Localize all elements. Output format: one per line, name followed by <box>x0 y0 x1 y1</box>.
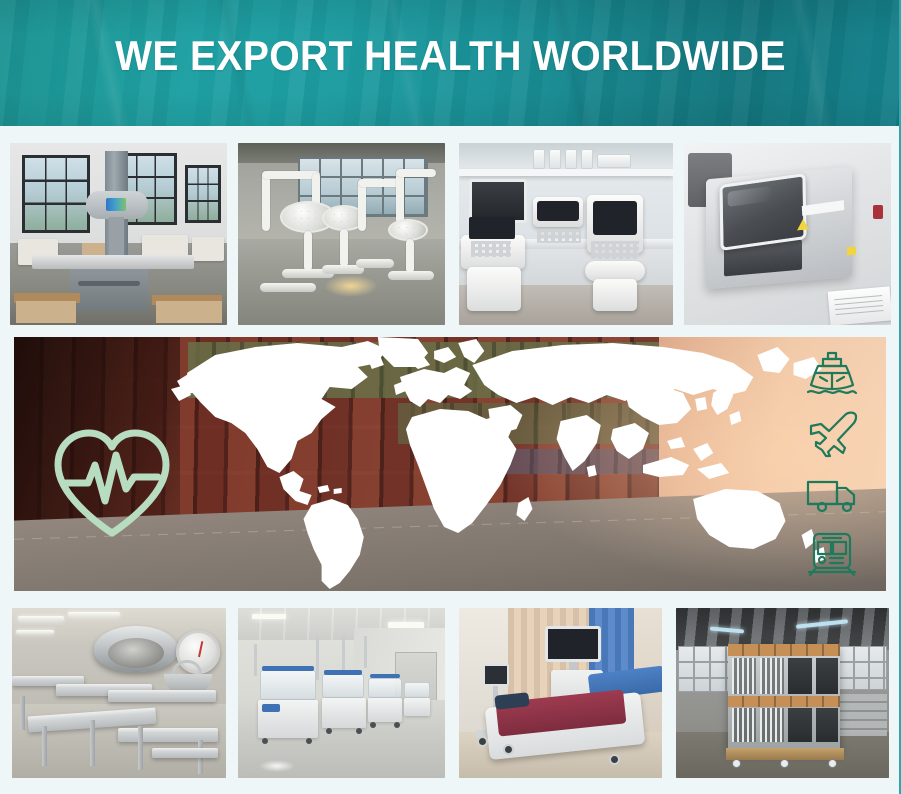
photo-vet-operating-tables[interactable] <box>12 608 226 778</box>
vet-cages-scene <box>676 608 889 778</box>
equipment-shelf <box>152 748 218 758</box>
header-banner: WE EXPORT HEALTH WORLDWIDE <box>0 0 901 126</box>
x-ray-stem <box>109 217 124 259</box>
control-keys <box>591 241 639 259</box>
photo-biochemistry-analyzer[interactable] <box>684 143 891 325</box>
photo-infant-incubators[interactable] <box>238 608 445 778</box>
surgical-lights-scene <box>238 143 445 325</box>
surgical-lamp-head <box>388 219 428 241</box>
patient-table <box>32 255 194 269</box>
world-map-silhouette <box>171 337 834 591</box>
photo-x-ray-room[interactable] <box>10 143 227 325</box>
lamp-base <box>356 259 394 268</box>
table-base <box>70 269 148 311</box>
iv-pole <box>254 644 257 676</box>
x-ray-control-panel <box>106 198 126 211</box>
caster-wheel <box>828 759 837 768</box>
window <box>185 165 221 223</box>
airplane-icon <box>805 410 859 458</box>
vet-tables-scene <box>12 608 226 778</box>
patient-monitor <box>545 626 601 662</box>
bed-wheel <box>609 754 620 765</box>
supply-jar <box>549 149 561 169</box>
factory-window <box>678 646 730 692</box>
caster-wheel <box>732 759 741 768</box>
table-leg <box>90 720 95 766</box>
heart-pulse-icon <box>48 425 176 541</box>
cage-label-strip <box>728 696 840 707</box>
crate <box>156 301 222 323</box>
incubator-hood <box>260 670 316 700</box>
caster-wheel <box>780 759 789 768</box>
power-switch[interactable] <box>873 205 883 219</box>
ceiling-pipe <box>342 636 345 674</box>
control-keys <box>537 229 581 243</box>
lamp-base <box>388 271 434 280</box>
ultrasound-room-scene <box>459 143 673 325</box>
world-map-shipping-banner <box>14 337 886 591</box>
incubator-cabinet <box>322 698 366 728</box>
truck-icon <box>805 470 859 518</box>
caster-wheel <box>394 722 400 728</box>
stainless-table <box>118 728 218 742</box>
cage-compartment <box>788 708 812 742</box>
cart-handle <box>585 261 645 281</box>
caster-wheel <box>370 722 376 728</box>
transport-modes-list <box>800 351 864 577</box>
ultrasound-keyboard-panel <box>469 217 515 239</box>
lamp-post <box>406 239 414 273</box>
supply-jar <box>533 149 545 169</box>
cage-compartment <box>788 658 812 694</box>
caster-wheel <box>306 738 312 744</box>
ceiling-light <box>68 612 120 617</box>
analyzer-touchscreen[interactable] <box>719 173 806 251</box>
incubator-corridor-scene <box>238 608 445 778</box>
ceiling-pipe <box>316 636 319 680</box>
ultrasound-display <box>593 201 637 235</box>
incubator-cabinet <box>404 698 430 716</box>
ceiling-light <box>18 616 64 621</box>
incubator-hood <box>322 674 364 698</box>
lamp-light-pool <box>324 275 378 297</box>
caster-wheel <box>262 738 268 744</box>
shelf-edge <box>459 169 673 176</box>
cage-door-grid <box>732 708 756 742</box>
incubator-hood <box>404 682 430 698</box>
wrapped-equipment <box>192 237 224 261</box>
export-banner-page: WE EXPORT HEALTH WORLDWIDE <box>0 0 901 794</box>
ultrasound-display <box>537 201 579 221</box>
supply-box <box>597 154 631 168</box>
photo-ultrasound-machines[interactable] <box>459 143 673 325</box>
cart-body <box>467 267 521 311</box>
supply-jar <box>581 149 593 169</box>
crate <box>16 301 76 323</box>
incubator-trim <box>370 674 400 678</box>
document-sheet <box>828 286 891 325</box>
ceiling-light <box>16 630 54 634</box>
stainless-table <box>108 690 216 702</box>
photo-surgical-lights[interactable] <box>238 143 445 325</box>
lamp-post <box>304 231 312 271</box>
ceiling-pipe <box>364 636 367 668</box>
trolley-wheel <box>477 736 488 747</box>
cage-door-grid <box>760 658 784 694</box>
stacked-crates <box>839 694 887 736</box>
supply-jar <box>565 149 577 169</box>
table-leg <box>20 696 25 730</box>
hospital-room-scene <box>459 608 662 778</box>
caster-wheel <box>326 728 332 734</box>
cage-compartment <box>816 708 838 742</box>
lamp-base <box>260 283 316 292</box>
incubator-cabinet <box>368 698 402 722</box>
bed-wheel <box>503 744 514 755</box>
train-icon <box>805 529 859 577</box>
cage-door-grid <box>732 658 756 694</box>
lamp-post <box>340 229 348 267</box>
photo-vet-cages[interactable] <box>676 608 889 778</box>
vital-signs-monitor <box>483 664 509 686</box>
photo-hospital-room[interactable] <box>459 608 662 778</box>
warning-sticker-icon <box>847 247 856 256</box>
table-leg <box>138 726 143 770</box>
caster-wheel <box>356 728 362 734</box>
cage-door-grid <box>760 708 784 742</box>
lamp-arm <box>358 179 400 187</box>
incubator-trim <box>262 666 314 671</box>
window <box>22 155 90 233</box>
ceiling-light <box>252 614 286 619</box>
cage-label-strip <box>728 644 840 656</box>
surgical-lamp-reflector <box>108 638 164 668</box>
lamp-arm <box>396 169 436 177</box>
incubator-control-panel <box>262 704 280 712</box>
cage-compartment <box>816 658 838 694</box>
lamp-arm <box>262 171 270 231</box>
analyzer-scene <box>684 143 891 325</box>
incubator-hood <box>368 678 402 698</box>
ship-icon <box>805 351 859 399</box>
control-keys <box>471 241 511 257</box>
factory-window <box>839 646 887 690</box>
page-title: WE EXPORT HEALTH WORLDWIDE <box>32 30 870 82</box>
incubator-trim <box>324 670 362 675</box>
cart-body <box>593 279 637 311</box>
table-leg <box>42 726 47 766</box>
x-ray-room-scene <box>10 143 227 325</box>
